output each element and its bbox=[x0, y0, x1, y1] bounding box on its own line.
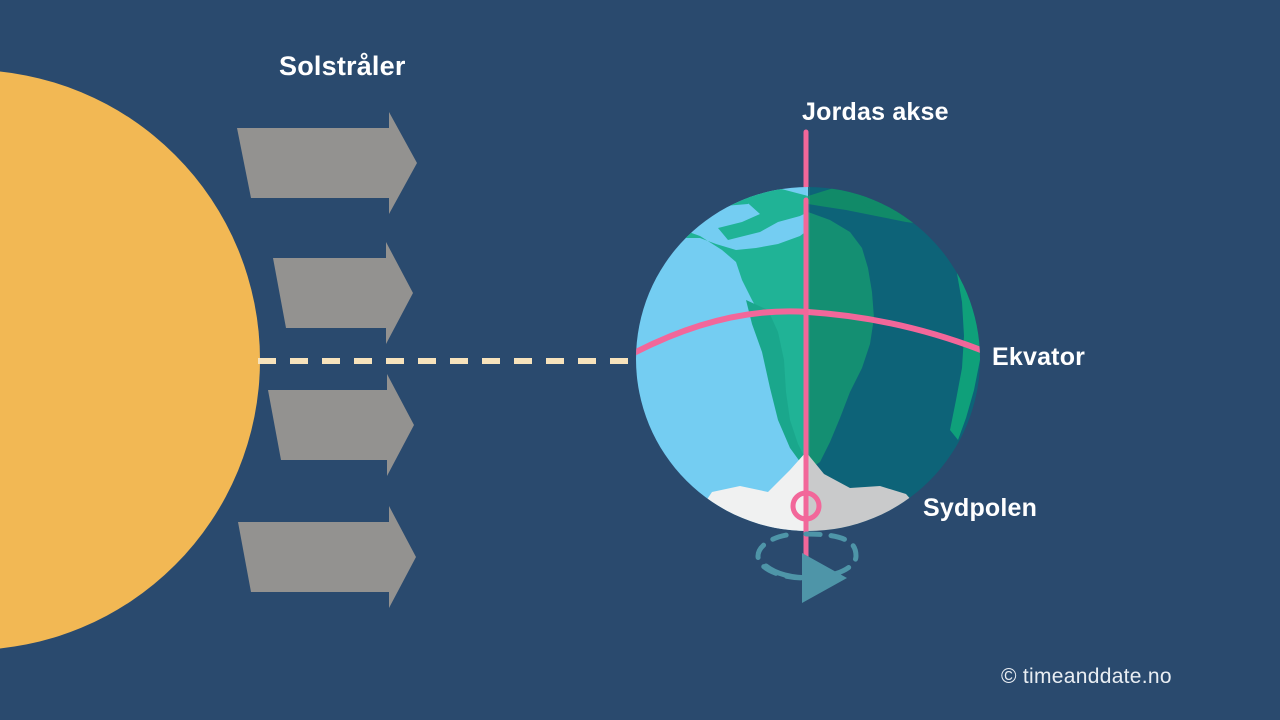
label-sun-rays: Solstråler bbox=[279, 51, 406, 82]
label-equator: Ekvator bbox=[992, 343, 1085, 372]
label-earth-axis: Jordas akse bbox=[802, 98, 949, 127]
label-south-pole: Sydpolen bbox=[923, 494, 1037, 523]
earth-sun-illumination-diagram bbox=[0, 0, 1280, 720]
copyright-credit: © timeanddate.no bbox=[1001, 665, 1172, 689]
diagram-canvas: Solstråler Jordas akse Ekvator Sydpolen … bbox=[0, 0, 1280, 720]
